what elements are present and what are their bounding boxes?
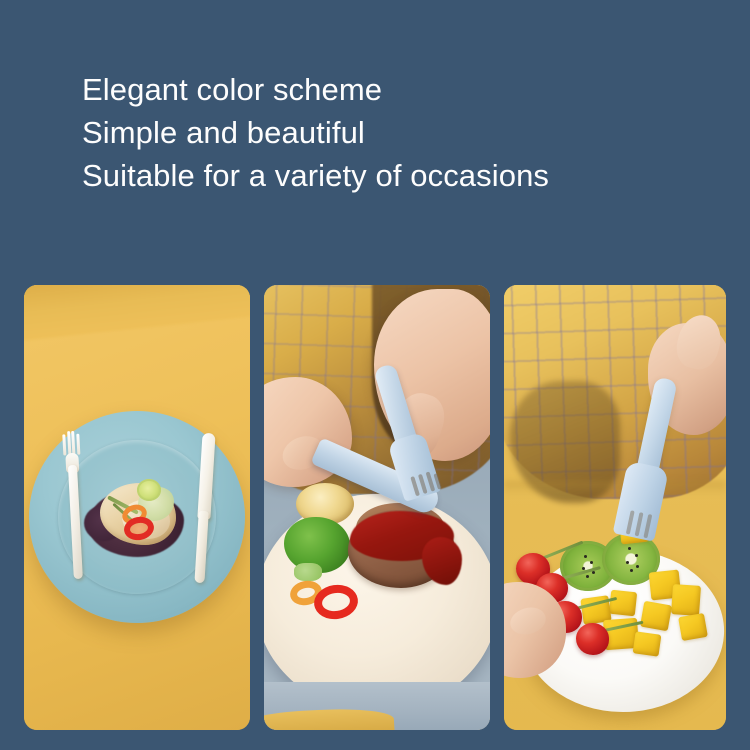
mango-cube bbox=[640, 601, 672, 631]
photo-panel-fruit-plate bbox=[504, 285, 726, 730]
fork-tine bbox=[76, 434, 80, 455]
fork-tine bbox=[433, 473, 442, 489]
mango-cube bbox=[671, 584, 701, 616]
fork-tine bbox=[635, 512, 644, 536]
headline-line-3: Suitable for a variety of occasions bbox=[82, 154, 682, 197]
cherry bbox=[576, 623, 609, 655]
fork-tine bbox=[626, 510, 635, 534]
fork-head bbox=[613, 461, 669, 542]
headline-line-2: Simple and beautiful bbox=[82, 111, 682, 154]
knife-handle bbox=[194, 511, 208, 583]
promo-banner: Elegant color scheme Simple and beautifu… bbox=[0, 0, 750, 750]
headline-block: Elegant color scheme Simple and beautifu… bbox=[82, 68, 682, 197]
headline-line-1: Elegant color scheme bbox=[82, 68, 682, 111]
broccoli-stem bbox=[294, 563, 322, 581]
fork-handle bbox=[68, 465, 83, 579]
mango-cube bbox=[633, 631, 662, 656]
mango-cube bbox=[678, 613, 708, 641]
mango-cube bbox=[609, 590, 637, 617]
fork-tine bbox=[62, 434, 66, 455]
plated-food-fish bbox=[82, 469, 192, 565]
photo-panel-blue-plate bbox=[24, 285, 250, 730]
photo-panel-steak-cutting bbox=[264, 285, 490, 730]
lime-slice bbox=[137, 479, 161, 501]
product-photo-gallery bbox=[24, 285, 726, 730]
fork-tine bbox=[643, 514, 652, 538]
